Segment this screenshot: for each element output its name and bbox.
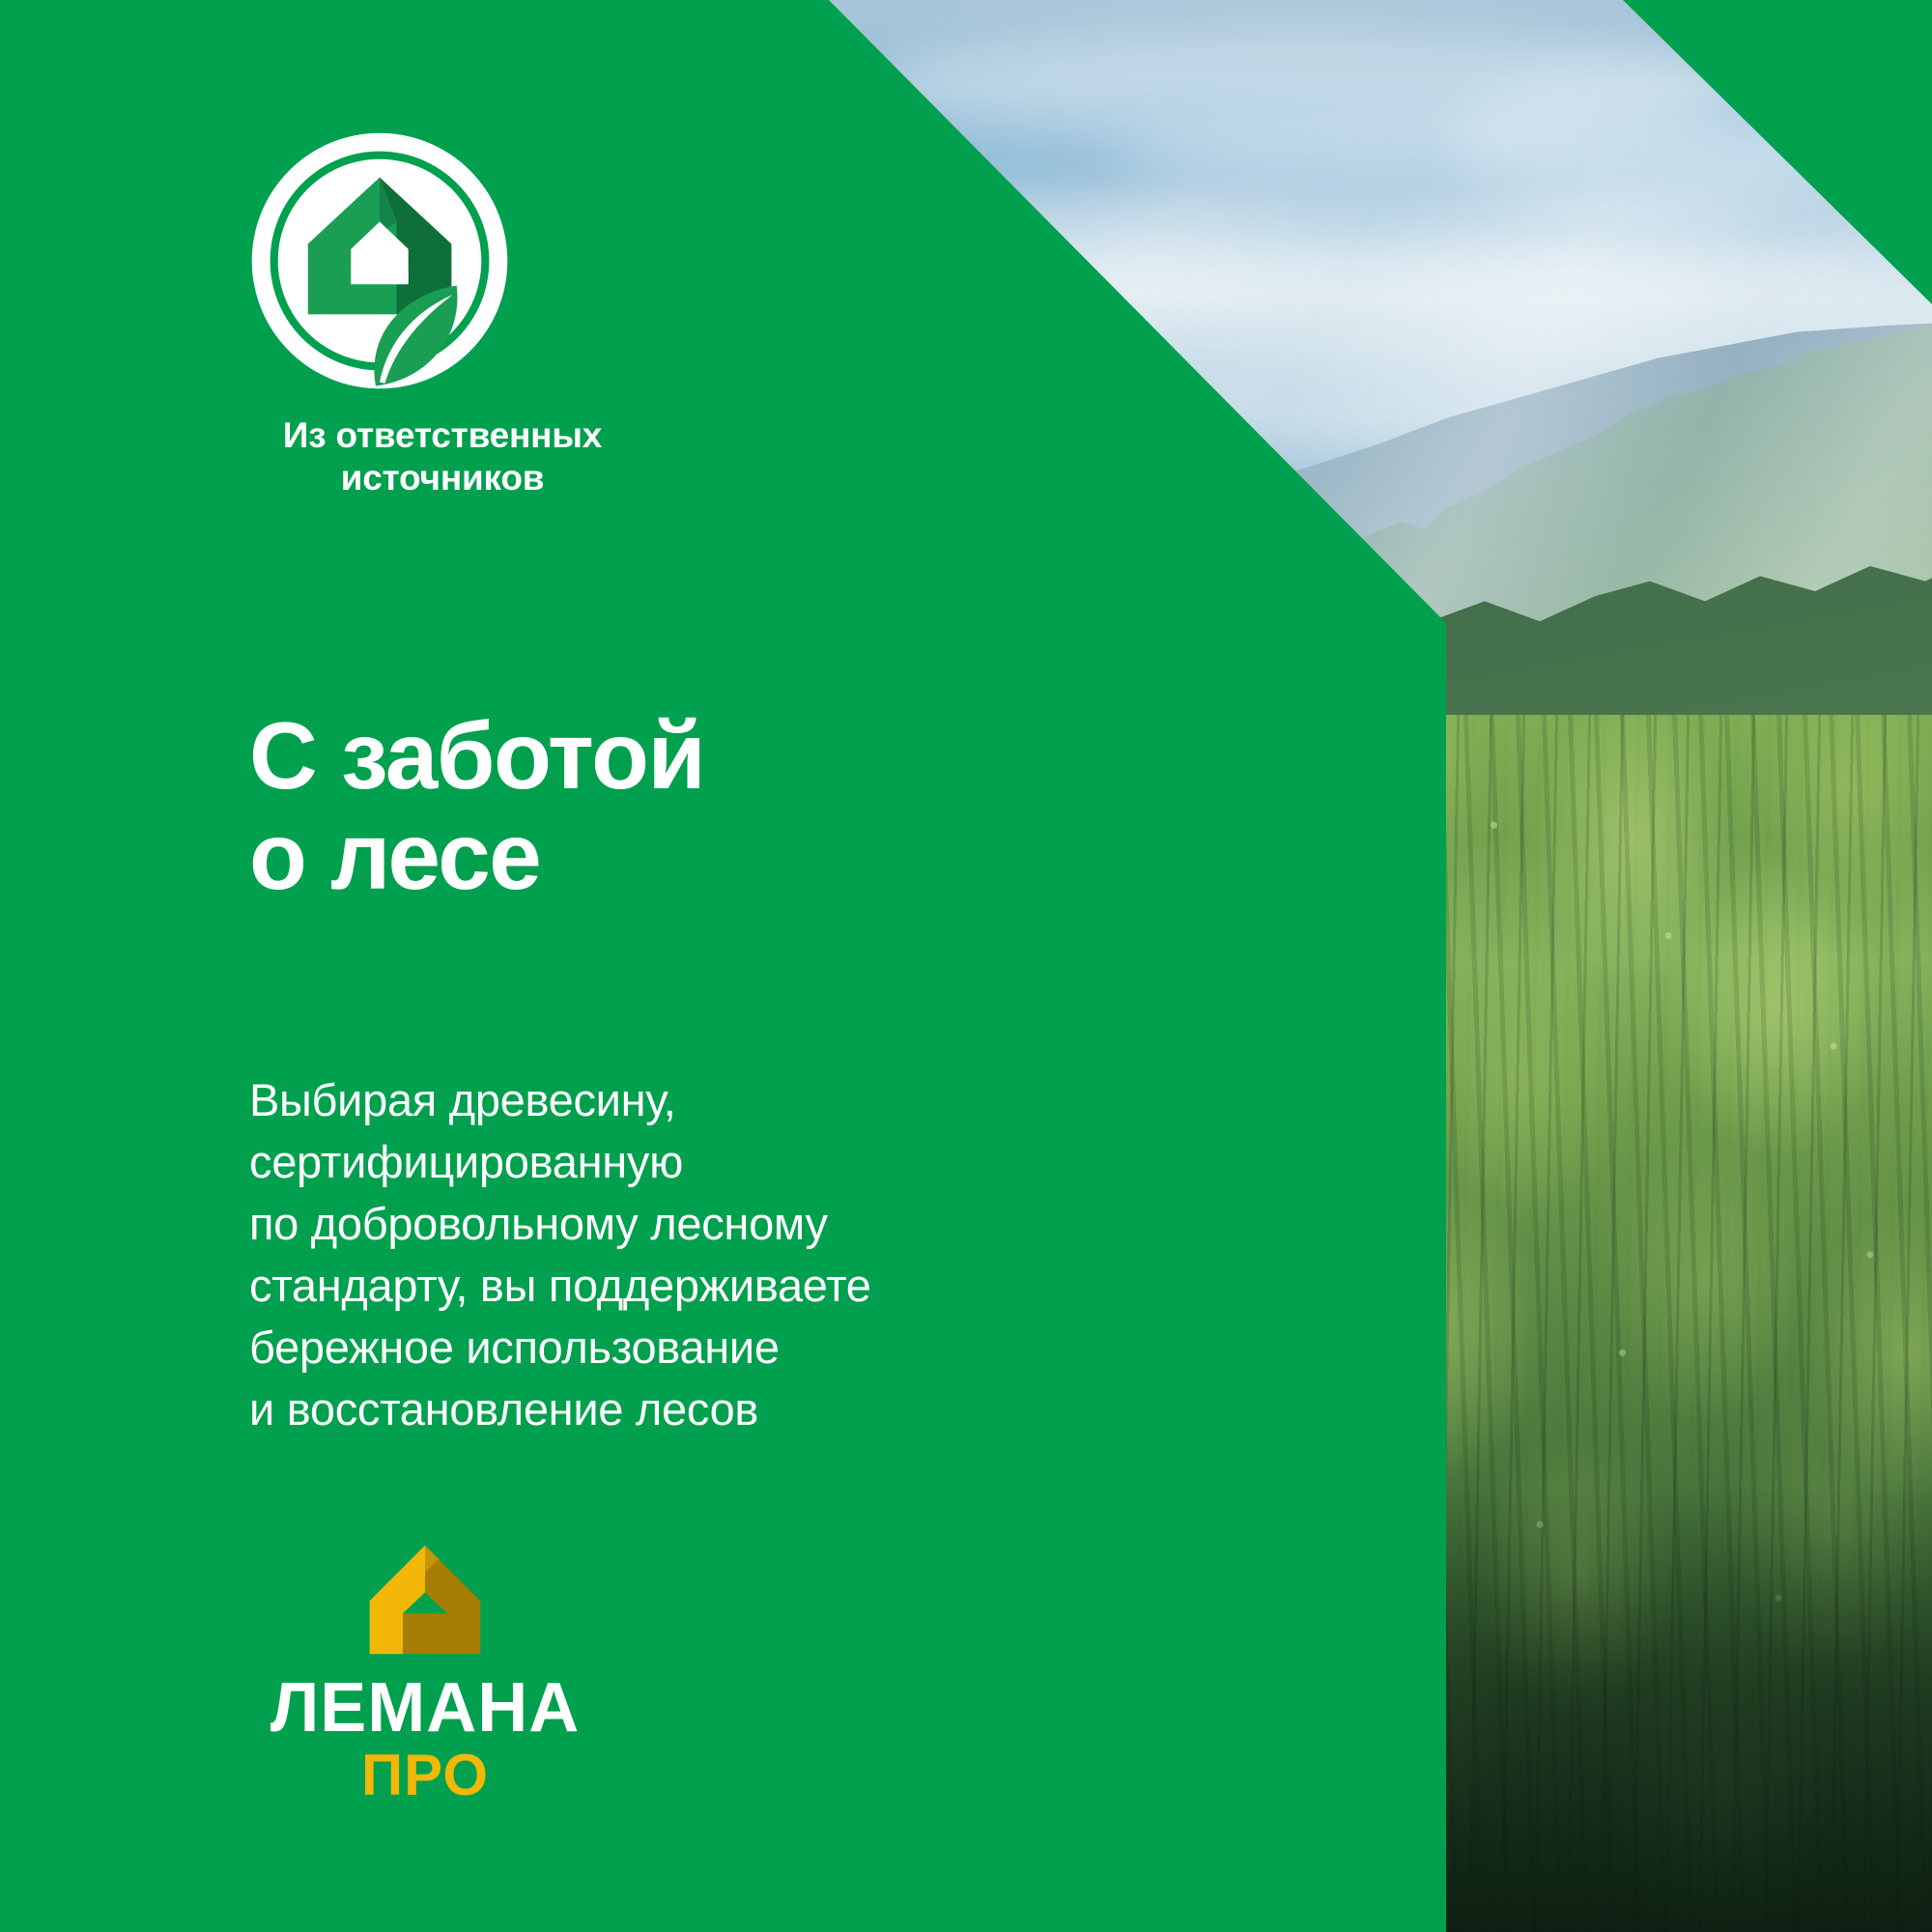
house-roof-icon xyxy=(361,1536,489,1663)
eco-badge-caption: Из ответственных источников xyxy=(249,414,636,498)
svg-text:ЛЕМАНА: ЛЕМАНА xyxy=(270,1669,581,1747)
eco-badge: Из ответственных источников xyxy=(249,130,694,498)
svg-text:ПРО: ПРО xyxy=(361,1743,489,1804)
page-title: С заботой о лесе xyxy=(249,706,704,907)
house-leaf-circle-icon xyxy=(249,130,510,391)
lemana-pro-logo: ЛЕМАНА ПРО xyxy=(251,1536,599,1804)
body-paragraph: Выбирая древесину, сертифицированную по … xyxy=(249,1069,1041,1439)
poster-canvas: Из ответственных источников С заботой о … xyxy=(0,0,1932,1932)
content-area: Из ответственных источников С заботой о … xyxy=(0,0,1446,1932)
lemana-pro-wordmark: ЛЕМАНА ПРО xyxy=(261,1669,589,1804)
